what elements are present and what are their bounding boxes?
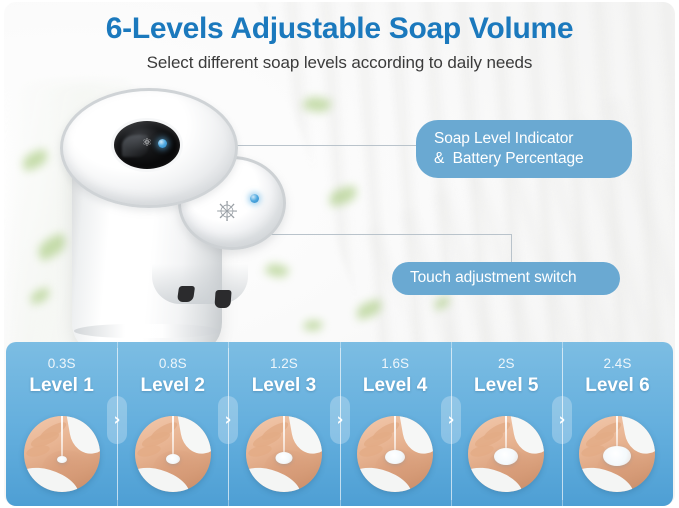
level-label: Level 4 [340, 375, 451, 397]
leader-line-touch-switch-vertical [511, 234, 512, 265]
level-duration: 2S [451, 356, 562, 371]
level-column[interactable]: 1.6SLevel 4 [340, 342, 451, 506]
chevron-right-icon: › [552, 396, 572, 444]
level-duration: 0.3S [6, 356, 117, 371]
callout-soap-level-indicator: Soap Level Indicator & Battery Percentag… [416, 120, 632, 178]
level-duration: 2.4S [562, 356, 673, 371]
led-indicator-power [250, 194, 259, 203]
soap-foam [166, 454, 180, 464]
chevron-right-icon: › [218, 396, 238, 444]
level-label: Level 5 [451, 375, 562, 397]
hand-foam-photo [135, 416, 211, 492]
leader-line-touch-switch-horizontal [250, 234, 512, 235]
soap-stream [505, 416, 507, 448]
soap-stream [61, 416, 63, 456]
soap-level-display: ⚛ [114, 121, 180, 169]
hand-foam-photo [579, 416, 655, 492]
dispenser-body-seam [74, 324, 220, 338]
callout-line-2: & Battery Percentage [434, 149, 614, 169]
callout-touch-adjustment-switch: Touch adjustment switch [392, 262, 620, 295]
soap-stream [172, 416, 174, 454]
hand-foam-photo [468, 416, 544, 492]
page-subtitle: Select different soap levels according t… [0, 53, 679, 73]
hand-foam-photo [357, 416, 433, 492]
level-label: Level 1 [6, 375, 117, 397]
level-duration: 1.6S [340, 356, 451, 371]
page-title: 6-Levels Adjustable Soap Volume [0, 12, 679, 46]
soap-foam [603, 446, 631, 466]
levels-strip: 0.3SLevel 10.8SLevel 21.2SLevel 31.6SLev… [6, 342, 673, 506]
level-label: Level 6 [562, 375, 673, 397]
level-duration: 1.2S [228, 356, 339, 371]
soap-dispenser-infographic: 6-Levels Adjustable Soap Volume Select d… [0, 0, 679, 508]
soap-stream [283, 416, 285, 452]
level-duration: 0.8S [117, 356, 228, 371]
soap-foam [57, 456, 67, 463]
soap-stream [616, 416, 618, 446]
level-column[interactable]: 0.3SLevel 1 [6, 342, 117, 506]
power-symbol-icon[interactable]: ⎈ [212, 196, 242, 226]
level-column[interactable]: 2SLevel 5 [451, 342, 562, 506]
level-column[interactable]: 0.8SLevel 2 [117, 342, 228, 506]
hand-foam-photo [24, 416, 100, 492]
product-image-dispenser: ⚛ ⎈ [52, 88, 282, 350]
chevron-right-icon: › [441, 396, 461, 444]
led-indicator-display [158, 139, 167, 148]
chevron-right-icon: › [330, 396, 350, 444]
dispenser-nozzle-shade [152, 264, 248, 304]
callout-line-1: Soap Level Indicator [434, 129, 614, 149]
chevron-right-icon: › [107, 396, 127, 444]
leaf-icon [303, 319, 323, 333]
callout-line-1: Touch adjustment switch [410, 268, 602, 288]
level-column[interactable]: 2.4SLevel 6 [562, 342, 673, 506]
soap-stream [394, 416, 396, 450]
soap-foam [494, 448, 518, 465]
level-label: Level 2 [117, 375, 228, 397]
hand-foam-photo [246, 416, 322, 492]
level-label: Level 3 [228, 375, 339, 397]
level-column[interactable]: 1.2SLevel 3 [228, 342, 339, 506]
soap-foam [275, 452, 292, 464]
droplet-battery-icon: ⚛ [140, 136, 154, 150]
dispenser-nozzle-right [214, 290, 231, 308]
soap-foam [385, 450, 405, 464]
